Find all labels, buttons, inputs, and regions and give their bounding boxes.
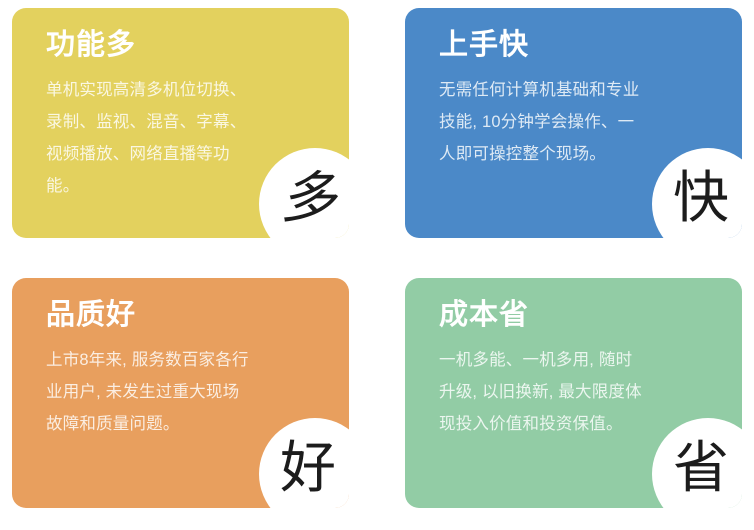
- card-description: 无需任何计算机基础和专业技能, 10分钟学会操作、一人即可操控整个现场。: [439, 74, 645, 171]
- feature-card-good-quality[interactable]: 品质好上市8年来, 服务数百家各行业用户, 未发生过重大现场故障和质量问题。好: [12, 278, 349, 508]
- feature-card-easy-to-learn[interactable]: 上手快无需任何计算机基础和专业技能, 10分钟学会操作、一人即可操控整个现场。快: [405, 8, 742, 238]
- card-body: 功能多单机实现高清多机位切换、录制、监视、混音、字幕、视频播放、网络直播等功能。: [12, 8, 349, 238]
- card-title: 成本省: [439, 300, 742, 332]
- card-title: 品质好: [46, 300, 349, 332]
- card-description: 单机实现高清多机位切换、录制、监视、混音、字幕、视频播放、网络直播等功能。: [46, 74, 252, 203]
- card-description: 上市8年来, 服务数百家各行业用户, 未发生过重大现场故障和质量问题。: [46, 344, 252, 441]
- feature-card-low-cost[interactable]: 成本省一机多能、一机多用, 随时升级, 以旧换新, 最大限度体现投入价值和投资保…: [405, 278, 742, 508]
- card-title: 功能多: [46, 30, 349, 62]
- card-body: 上手快无需任何计算机基础和专业技能, 10分钟学会操作、一人即可操控整个现场。: [405, 8, 742, 238]
- card-body: 品质好上市8年来, 服务数百家各行业用户, 未发生过重大现场故障和质量问题。: [12, 278, 349, 508]
- feature-card-grid: 功能多单机实现高清多机位切换、录制、监视、混音、字幕、视频播放、网络直播等功能。…: [0, 0, 754, 524]
- card-body: 成本省一机多能、一机多用, 随时升级, 以旧换新, 最大限度体现投入价值和投资保…: [405, 278, 742, 508]
- card-title: 上手快: [439, 30, 742, 62]
- card-description: 一机多能、一机多用, 随时升级, 以旧换新, 最大限度体现投入价值和投资保值。: [439, 344, 645, 441]
- feature-card-many-functions[interactable]: 功能多单机实现高清多机位切换、录制、监视、混音、字幕、视频播放、网络直播等功能。…: [12, 8, 349, 238]
